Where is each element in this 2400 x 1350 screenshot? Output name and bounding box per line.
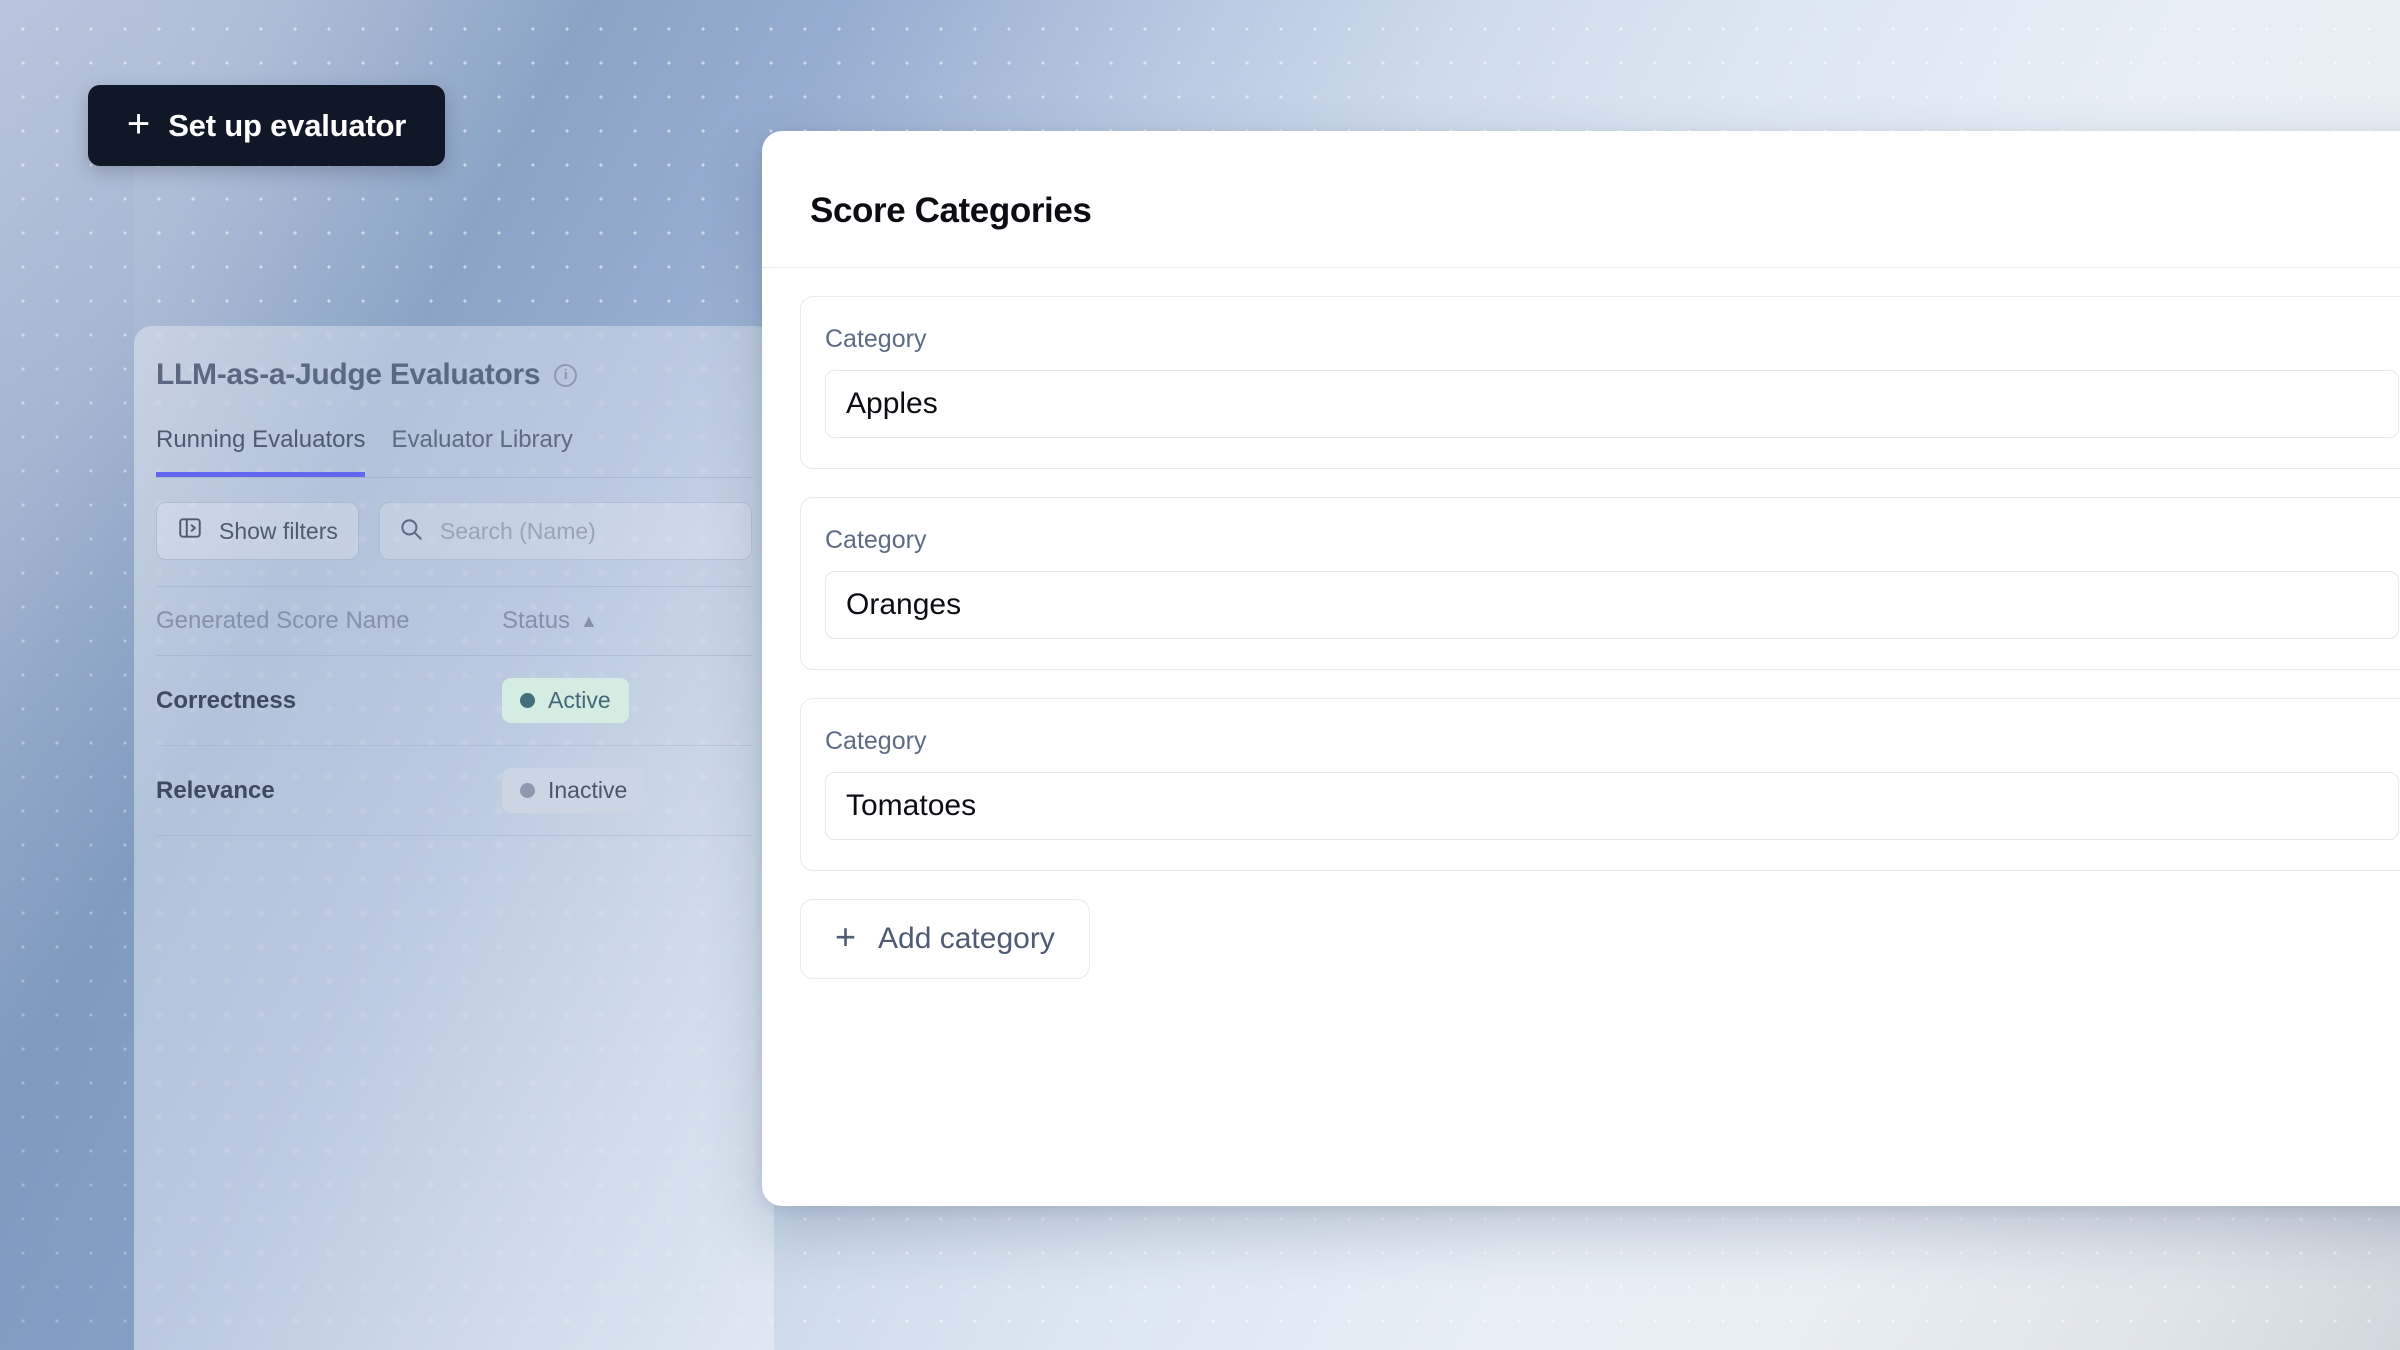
category-card: Category — [800, 698, 2400, 871]
search-input[interactable] — [440, 518, 733, 545]
category-input[interactable] — [825, 772, 2399, 840]
show-filters-button[interactable]: Show filters — [156, 502, 359, 560]
evaluators-panel-title: LLM-as-a-Judge Evaluators — [156, 358, 540, 392]
row-score-name: Relevance — [156, 777, 502, 805]
plus-icon: + — [127, 104, 150, 144]
panel-filter-icon — [177, 515, 203, 547]
status-badge: Active — [502, 678, 629, 723]
column-header-status-label: Status — [502, 607, 570, 635]
category-input[interactable] — [825, 571, 2399, 639]
plus-icon: + — [835, 919, 856, 955]
evaluators-toolbar: Show filters — [156, 502, 752, 560]
evaluators-table: Generated Score Name Status ▲ Correctnes… — [156, 586, 752, 836]
evaluators-panel-header: LLM-as-a-Judge Evaluators i — [156, 326, 752, 392]
row-status-cell: Active — [502, 678, 752, 723]
category-label: Category — [801, 325, 2400, 370]
set-up-evaluator-button[interactable]: + Set up evaluator — [88, 85, 445, 166]
status-badge-label: Active — [548, 687, 611, 714]
evaluators-panel-inner: LLM-as-a-Judge Evaluators i Running Eval… — [134, 326, 774, 836]
left-rail-background — [0, 0, 134, 1350]
categories-list: Category Category Category + Add cat — [762, 268, 2400, 979]
row-status-cell: Inactive — [502, 768, 752, 813]
status-badge: Inactive — [502, 768, 645, 813]
table-row[interactable]: Relevance Inactive — [156, 746, 752, 836]
category-card: Category — [800, 497, 2400, 670]
category-card: Category — [800, 296, 2400, 469]
set-up-evaluator-label: Set up evaluator — [168, 108, 406, 144]
category-input[interactable] — [825, 370, 2399, 438]
show-filters-label: Show filters — [219, 518, 338, 545]
category-input-wrap — [801, 772, 2400, 840]
category-label: Category — [801, 526, 2400, 571]
category-label: Category — [801, 727, 2400, 772]
info-icon[interactable]: i — [554, 364, 577, 387]
table-row[interactable]: Correctness Active — [156, 656, 752, 746]
status-dot-icon — [520, 693, 535, 708]
llm-as-a-judge-evaluators-panel: LLM-as-a-Judge Evaluators i Running Eval… — [134, 326, 774, 1350]
column-header-generated-score-name[interactable]: Generated Score Name — [156, 607, 502, 635]
table-header-row: Generated Score Name Status ▲ — [156, 586, 752, 656]
category-input-wrap — [801, 571, 2400, 639]
column-header-status[interactable]: Status ▲ — [502, 607, 752, 635]
score-categories-dialog: Score Categories Category Category Categ… — [762, 131, 2400, 1206]
app-root: + Set up evaluator LLM-as-a-Judge Evalua… — [0, 0, 2400, 1350]
row-score-name: Correctness — [156, 687, 502, 715]
sort-ascending-icon: ▲ — [580, 611, 598, 632]
status-badge-label: Inactive — [548, 777, 627, 804]
status-dot-icon — [520, 783, 535, 798]
search-box[interactable] — [379, 502, 752, 560]
tab-running-evaluators[interactable]: Running Evaluators — [156, 426, 365, 477]
search-icon — [398, 516, 424, 547]
add-category-label: Add category — [878, 922, 1055, 956]
evaluators-tab-bar: Running Evaluators Evaluator Library — [156, 426, 752, 478]
add-category-button[interactable]: + Add category — [800, 899, 1090, 979]
tab-evaluator-library[interactable]: Evaluator Library — [391, 426, 572, 477]
category-input-wrap — [801, 370, 2400, 438]
dialog-title: Score Categories — [762, 131, 2400, 231]
